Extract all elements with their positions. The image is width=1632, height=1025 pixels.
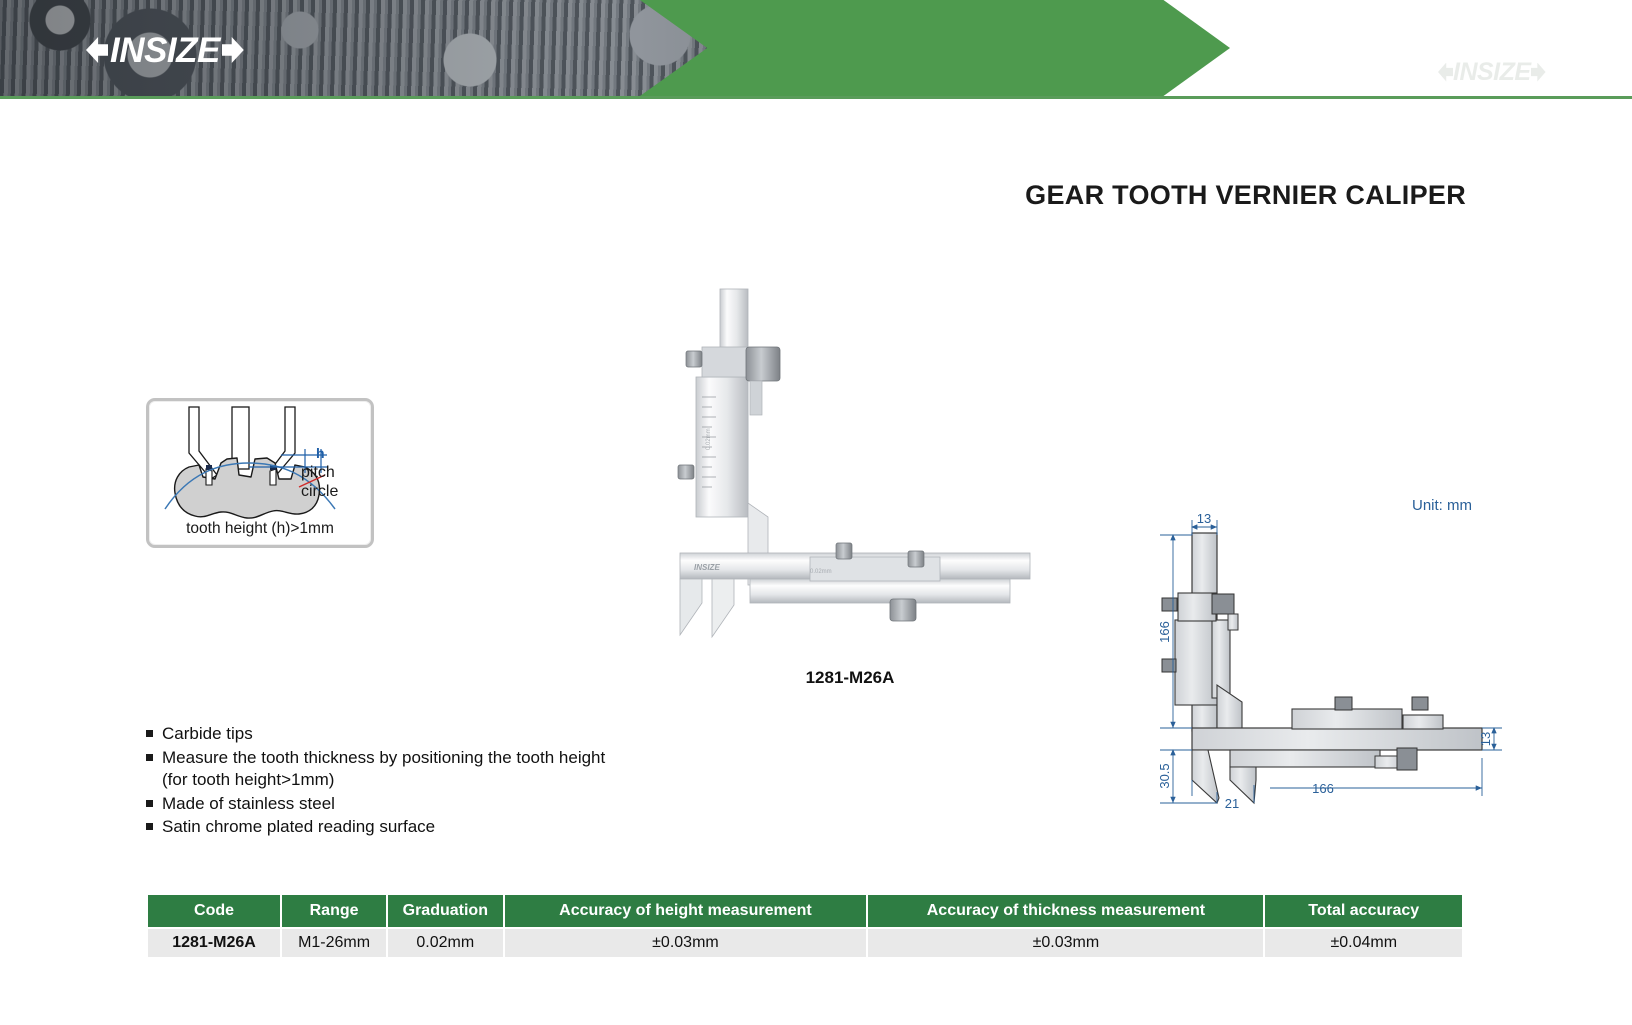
- tooth-height-caption: tooth height (h)>1mm: [149, 520, 371, 538]
- bullet-square-icon: [146, 730, 153, 737]
- gear-tooth-caliper-photo: INSIZE 0.02mm 0.02mm: [650, 285, 1050, 655]
- svg-text:0.02mm: 0.02mm: [810, 569, 832, 575]
- dimension-drawing: 13 166 30.5 21 166 13: [1120, 480, 1520, 810]
- table-header-cell: Code: [148, 895, 281, 928]
- table-cell-range: M1-26mm: [281, 928, 387, 957]
- h-dimension-label: h: [316, 445, 325, 461]
- pitch-circle-label: pitch circle: [301, 463, 338, 501]
- table-header-cell: Total accuracy: [1264, 895, 1462, 928]
- bullet-square-icon: [146, 823, 153, 830]
- svg-text:13: 13: [1197, 511, 1211, 526]
- table-header-cell: Range: [281, 895, 387, 928]
- svg-text:30.5: 30.5: [1157, 763, 1172, 788]
- watermark-wordmark: INSIZE: [1453, 60, 1531, 85]
- pitch-circle-label-line1: pitch: [301, 463, 338, 482]
- measuring-principle-diagram: h pitch circle tooth height (h)>1mm: [146, 398, 374, 548]
- feature-text: Carbide tips: [162, 723, 626, 746]
- feature-text: Made of stainless steel: [162, 793, 626, 816]
- table-cell-code: 1281-M26A: [148, 928, 281, 957]
- table-header-row: Code Range Graduation Accuracy of height…: [148, 895, 1462, 928]
- table-cell-total-accuracy: ±0.04mm: [1264, 928, 1462, 957]
- product-model-label: 1281-M26A: [650, 668, 1050, 688]
- svg-text:166: 166: [1157, 621, 1172, 643]
- logo-wordmark: INSIZE: [108, 33, 222, 68]
- watermark-right-arrow-icon: [1531, 63, 1546, 82]
- table-cell-thickness-accuracy: ±0.03mm: [867, 928, 1264, 957]
- page-header: INSIZE: [0, 0, 1632, 96]
- feature-item: Satin chrome plated reading surface: [146, 816, 626, 839]
- svg-text:21: 21: [1225, 796, 1239, 810]
- insize-watermark: INSIZE: [1438, 56, 1626, 88]
- table-cell-graduation: 0.02mm: [387, 928, 503, 957]
- bullet-square-icon: [146, 754, 153, 761]
- table-row: 1281-M26A M1-26mm 0.02mm ±0.03mm ±0.03mm…: [148, 928, 1462, 957]
- table-cell-height-accuracy: ±0.03mm: [504, 928, 868, 957]
- feature-list: Carbide tips Measure the tooth thickness…: [146, 723, 626, 840]
- watermark-left-arrow-icon: [1438, 63, 1453, 82]
- svg-text:13: 13: [1478, 732, 1493, 746]
- pitch-circle-label-line2: circle: [301, 482, 338, 501]
- feature-text: Satin chrome plated reading surface: [162, 816, 626, 839]
- table-header-cell: Accuracy of height measurement: [504, 895, 868, 928]
- specification-table: Code Range Graduation Accuracy of height…: [148, 895, 1462, 957]
- feature-item: Measure the tooth thickness by positioni…: [146, 747, 626, 792]
- logo-right-arrow-icon: [222, 37, 244, 63]
- page-title: GEAR TOOTH VERNIER CALIPER: [1025, 180, 1466, 211]
- insize-logo: INSIZE: [86, 30, 276, 70]
- bullet-square-icon: [146, 800, 153, 807]
- feature-text: Measure the tooth thickness by positioni…: [162, 747, 626, 792]
- table-header-cell: Graduation: [387, 895, 503, 928]
- header-green-rule: [0, 96, 1632, 99]
- feature-item: Made of stainless steel: [146, 793, 626, 816]
- logo-left-arrow-icon: [86, 37, 108, 63]
- table-header-cell: Accuracy of thickness measurement: [867, 895, 1264, 928]
- svg-text:INSIZE: INSIZE: [694, 563, 720, 572]
- svg-text:0.02mm: 0.02mm: [706, 428, 712, 450]
- svg-text:166: 166: [1312, 781, 1334, 796]
- caliper-dimension-schematic: 13 166 30.5 21 166 13: [1120, 480, 1520, 810]
- product-photo: INSIZE 0.02mm 0.02mm: [650, 285, 1050, 655]
- feature-item: Carbide tips: [146, 723, 626, 746]
